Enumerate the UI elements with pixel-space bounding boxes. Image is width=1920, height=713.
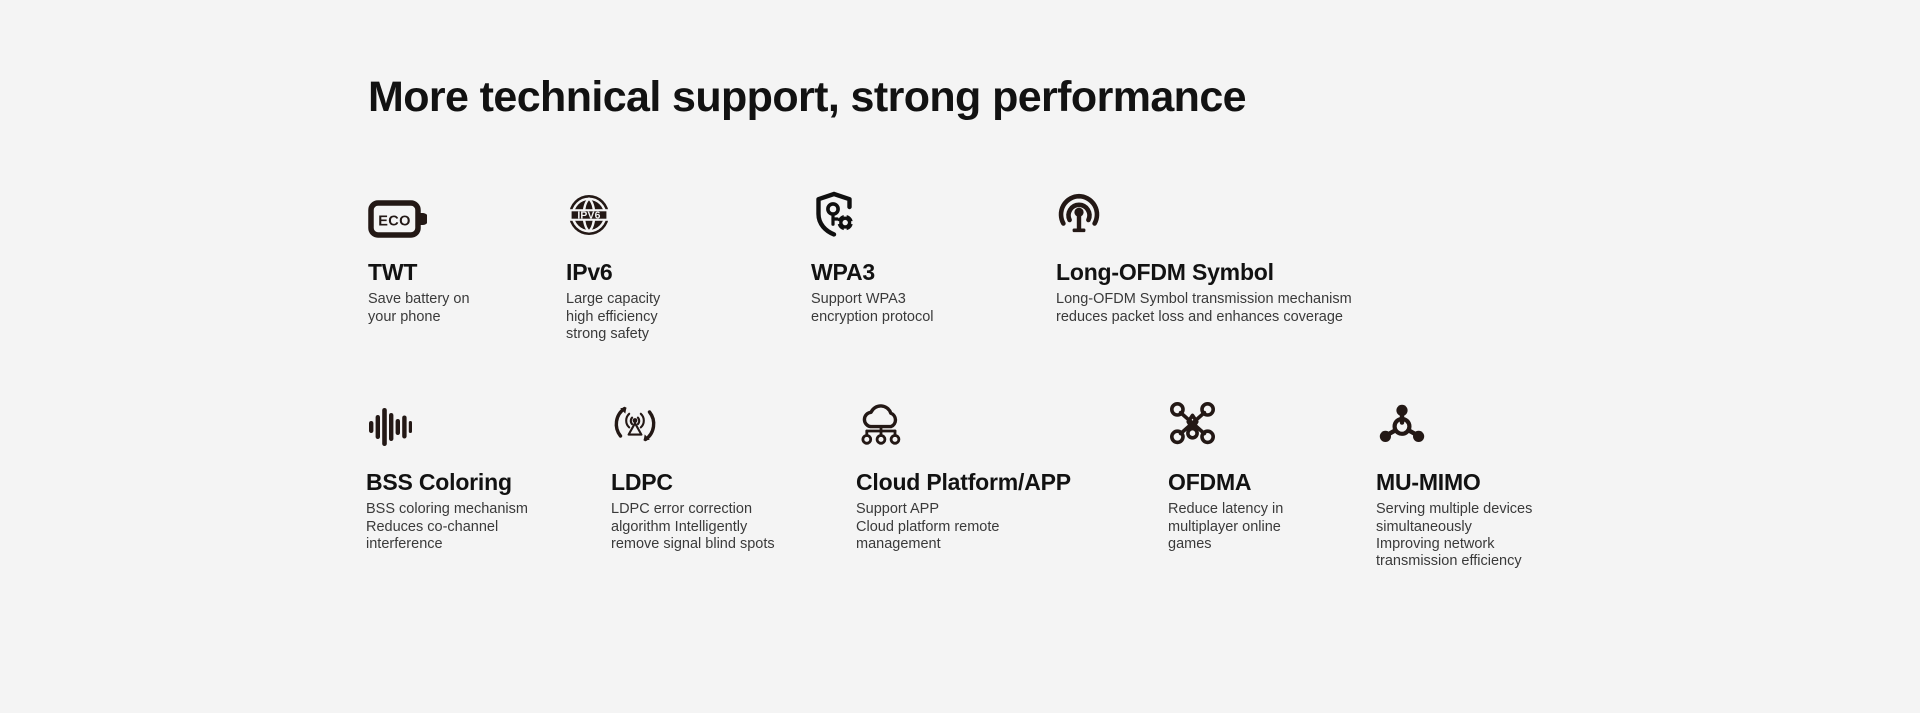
svg-text:ECO: ECO	[378, 214, 411, 230]
page-title: More technical support, strong performan…	[368, 76, 1246, 119]
ipv6-globe-icon: IPV6	[566, 188, 811, 238]
feature-title: OFDMA	[1168, 470, 1376, 495]
crossed-network-icon	[1168, 398, 1376, 448]
feature-card-bss-coloring: BSS Coloring BSS coloring mechanism Redu…	[366, 398, 611, 553]
feature-card-ldpc: LDPC LDPC error correction algorithm Int…	[611, 398, 856, 553]
feature-description: Serving multiple devices simultaneously …	[1376, 501, 1616, 571]
feature-title: TWT	[368, 260, 566, 285]
feature-description: BSS coloring mechanism Reduces co-channe…	[366, 501, 611, 553]
feature-card-mu-mimo: MU-MIMO Serving multiple devices simulta…	[1376, 398, 1616, 571]
feature-description: Large capacity high efficiency strong sa…	[566, 291, 811, 343]
feature-title: MU-MIMO	[1376, 470, 1616, 495]
feature-description: LDPC error correction algorithm Intellig…	[611, 501, 856, 553]
feature-description: Save battery on your phone	[368, 291, 566, 326]
feature-description: Support WPA3 encryption protocol	[811, 291, 1056, 326]
feature-description: Reduce latency in multiplayer online gam…	[1168, 501, 1376, 553]
feature-card-wpa3: WPA3 Support WPA3 encryption protocol	[811, 188, 1056, 326]
feature-title: IPv6	[566, 260, 811, 285]
signal-refresh-icon	[611, 398, 856, 448]
feature-title: Cloud Platform/APP	[856, 470, 1168, 495]
feature-row-2: BSS Coloring BSS coloring mechanism Redu…	[366, 398, 1616, 571]
feature-row-1: ECO TWT Save battery on your phone IPV6 …	[368, 188, 1396, 343]
cloud-nodes-icon	[856, 398, 1168, 448]
feature-title: Long-OFDM Symbol	[1056, 260, 1396, 285]
feature-card-ofdma: OFDMA Reduce latency in multiplayer onli…	[1168, 398, 1376, 553]
eco-battery-icon: ECO	[368, 188, 566, 238]
feature-title: LDPC	[611, 470, 856, 495]
feature-title: BSS Coloring	[366, 470, 611, 495]
feature-card-twt: ECO TWT Save battery on your phone	[368, 188, 566, 326]
feature-card-cloud-platform: Cloud Platform/APP Support APP Cloud pla…	[856, 398, 1168, 553]
broadcast-antenna-icon	[1056, 188, 1396, 238]
feature-card-ipv6: IPV6 IPv6 Large capacity high efficiency…	[566, 188, 811, 343]
feature-description: Support APP Cloud platform remote manage…	[856, 501, 1168, 553]
waveform-bars-icon	[366, 398, 611, 448]
feature-card-long-ofdm: Long-OFDM Symbol Long-OFDM Symbol transm…	[1056, 188, 1396, 326]
hub-spoke-icon	[1376, 398, 1616, 448]
shield-key-gear-icon	[811, 188, 1056, 238]
feature-description: Long-OFDM Symbol transmission mechanism …	[1056, 291, 1396, 326]
feature-title: WPA3	[811, 260, 1056, 285]
feature-highlights-page: More technical support, strong performan…	[0, 0, 1920, 713]
svg-text:IPV6: IPV6	[577, 211, 600, 222]
